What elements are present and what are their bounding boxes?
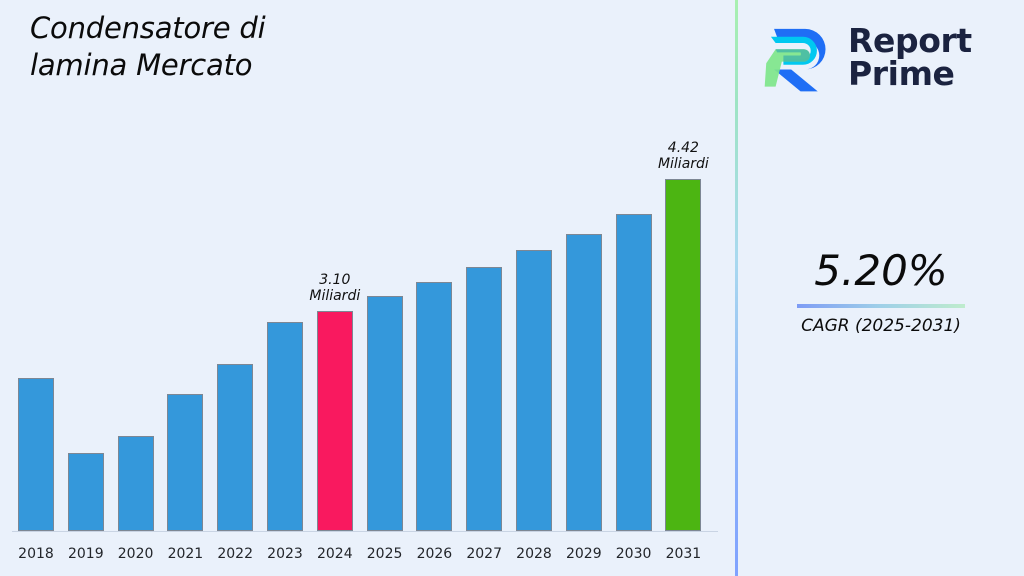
bar-value-label-amount: 4.42 [643, 140, 723, 157]
bar-2030[interactable] [616, 214, 652, 531]
side-panel: Report Prime 5.20% CAGR (2025-2031) [738, 0, 1024, 576]
bar-2025[interactable] [367, 296, 403, 531]
bar-value-label-unit: Miliardi [643, 156, 723, 173]
bar-value-label: 4.42Miliardi [643, 140, 723, 173]
bar-2029[interactable] [566, 234, 602, 531]
chart-screenshot: Condensatore di lamina Mercato 201820192… [0, 0, 1024, 576]
brand-line-2: Prime [848, 57, 972, 90]
bar-2021[interactable] [167, 394, 203, 531]
bar-2024[interactable] [317, 311, 353, 531]
report-prime-logo: Report Prime [760, 14, 1010, 100]
cagr-caption: CAGR (2025-2031) [738, 316, 1024, 336]
bar-value-label: 3.10Miliardi [295, 272, 375, 305]
plot-area: 2018201920202021202220233.10Miliardi2024… [0, 0, 735, 576]
bar-value-label-unit: Miliardi [295, 288, 375, 305]
cagr-divider-rule [797, 304, 965, 308]
bar-2023[interactable] [267, 322, 303, 531]
bar-2031[interactable] [665, 179, 701, 531]
x-tick-label-2031: 2031 [653, 546, 713, 562]
report-prime-r-mark-icon [760, 18, 838, 96]
bar-value-label-amount: 3.10 [295, 272, 375, 289]
chart-panel: Condensatore di lamina Mercato 201820192… [0, 0, 735, 576]
cagr-block: 5.20% CAGR (2025-2031) [738, 248, 1024, 336]
bar-2019[interactable] [68, 453, 104, 531]
x-axis-line [12, 531, 718, 532]
bar-2026[interactable] [416, 282, 452, 531]
cagr-value: 5.20% [738, 248, 1024, 294]
bar-2018[interactable] [18, 378, 54, 531]
bar-2022[interactable] [217, 364, 253, 531]
bar-2028[interactable] [516, 250, 552, 531]
report-prime-wordmark: Report Prime [848, 24, 972, 90]
bar-2020[interactable] [118, 436, 154, 531]
brand-line-1: Report [848, 24, 972, 57]
bar-2027[interactable] [466, 267, 502, 531]
